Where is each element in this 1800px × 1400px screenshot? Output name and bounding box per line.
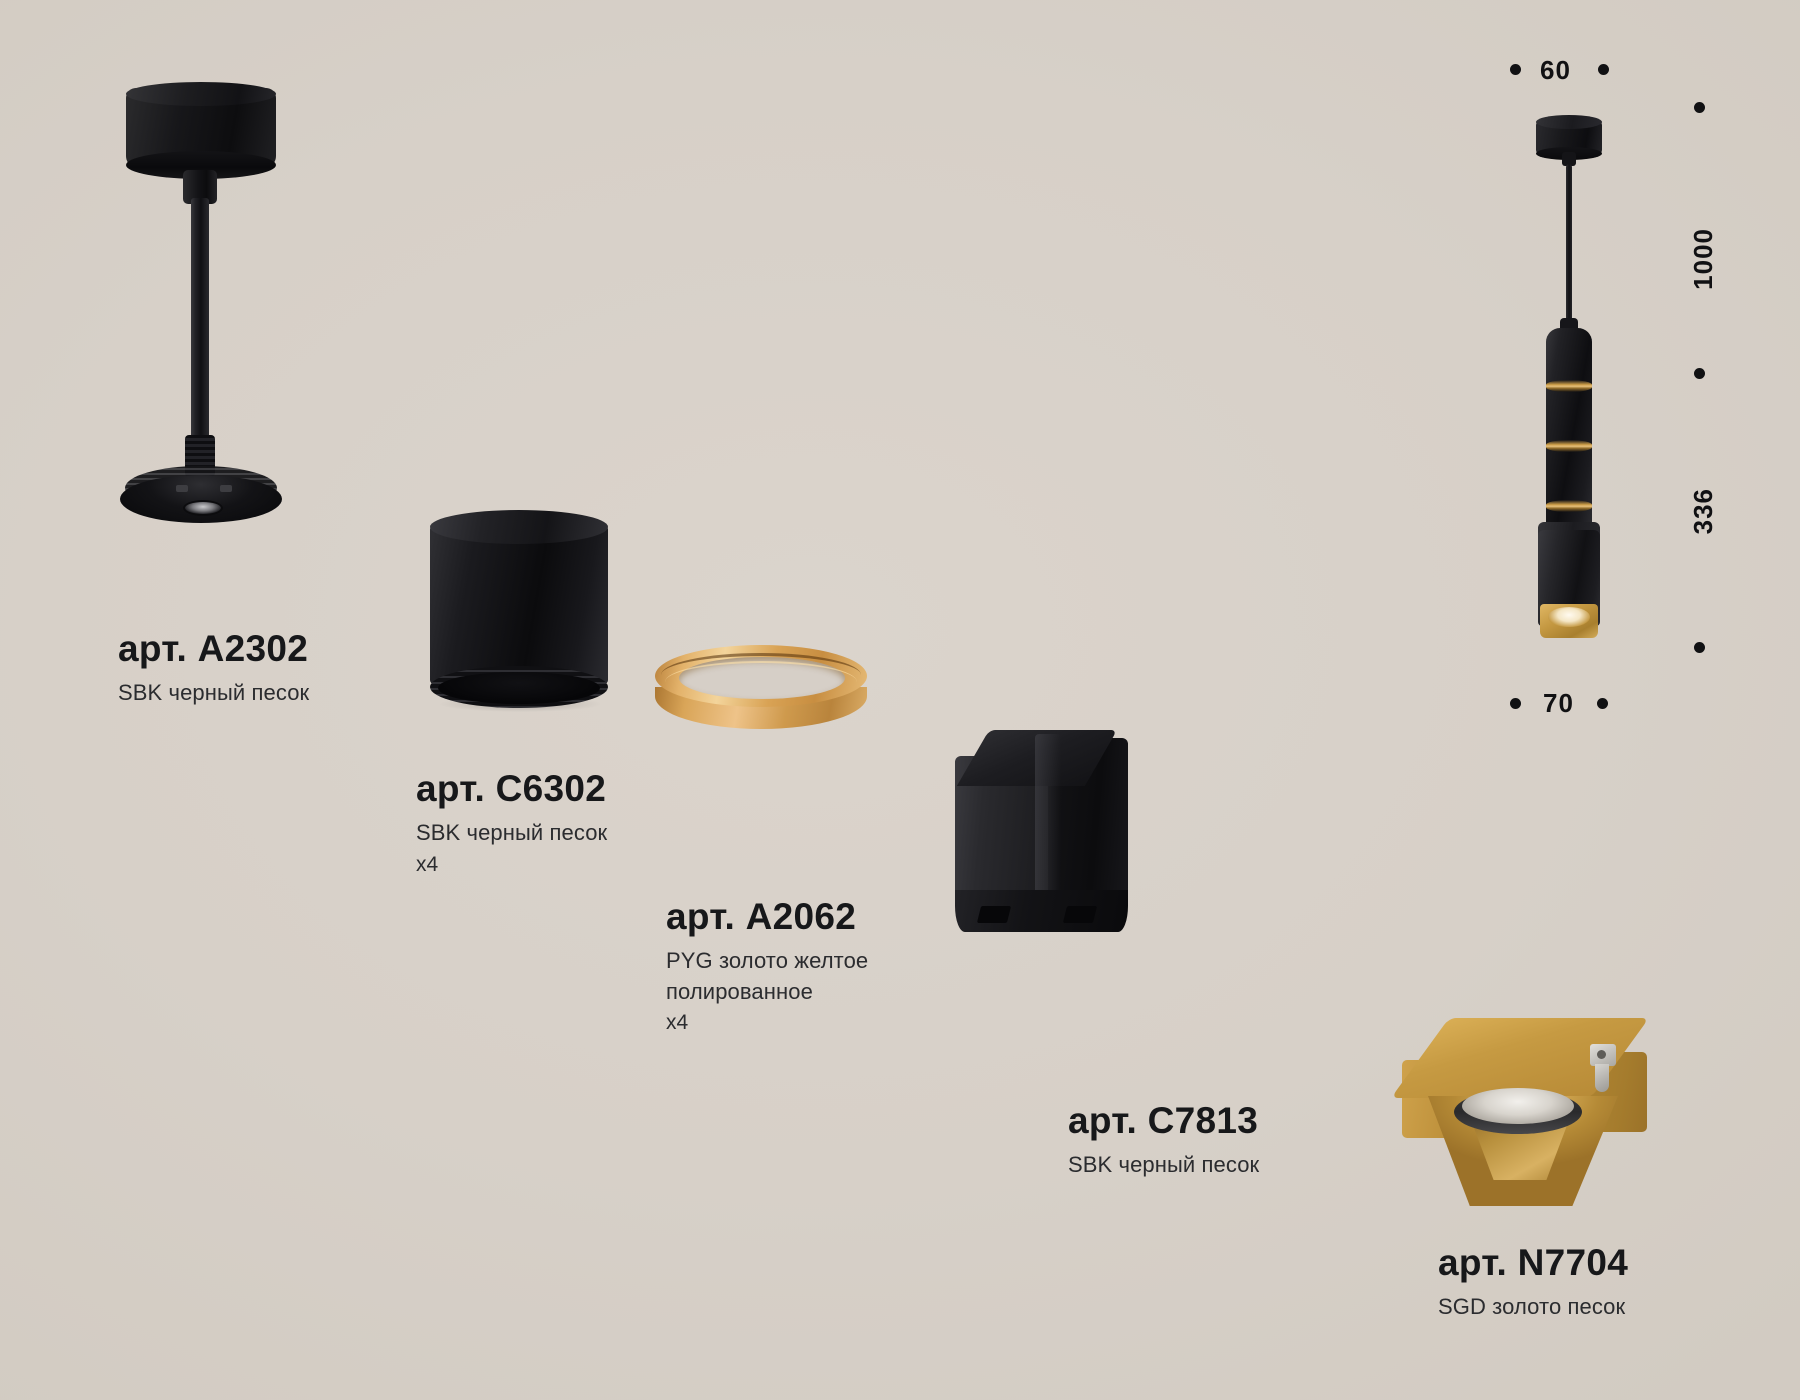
label-n7704: арт. N7704 SGD золото песок bbox=[1438, 1242, 1628, 1323]
dimension-width-bottom: 70 bbox=[1543, 688, 1574, 719]
component-a2062-graphic bbox=[655, 645, 870, 745]
assembly-gold-ring-1-icon bbox=[1546, 380, 1592, 392]
square-tube-slot-left-icon bbox=[977, 906, 1011, 923]
disc-nub-right-icon bbox=[220, 485, 232, 492]
dim-dot-70-left bbox=[1510, 698, 1521, 709]
assembly-gold-ring-3-icon bbox=[1546, 500, 1592, 512]
article-code-c6302: арт. C6302 bbox=[416, 768, 607, 809]
dim-dot-60-left bbox=[1510, 64, 1521, 75]
quantity-c6302: x4 bbox=[416, 851, 607, 879]
assembly-cable-icon bbox=[1566, 164, 1572, 328]
ring-groove-light-icon bbox=[665, 661, 857, 703]
dimension-suspension-length: 1000 bbox=[1688, 228, 1719, 290]
finish-c6302: SBK черный песок bbox=[416, 818, 607, 848]
ceiling-cup-icon bbox=[126, 88, 276, 166]
component-c6302-graphic bbox=[430, 510, 620, 740]
assembly-ceiling-cup-icon bbox=[1536, 120, 1602, 154]
component-n7704-graphic bbox=[1402, 1018, 1662, 1218]
article-code-n7704: арт. N7704 bbox=[1438, 1242, 1628, 1283]
assembly-gold-bezel-icon bbox=[1540, 604, 1598, 638]
cylinder-top-cap-icon bbox=[430, 510, 608, 544]
finish-a2302: SBK черный песок bbox=[118, 678, 309, 708]
label-a2302: арт. A2302 SBK черный песок bbox=[118, 628, 309, 709]
dimension-fixture-height: 336 bbox=[1688, 488, 1719, 534]
disc-center-eye-icon bbox=[183, 500, 223, 516]
article-code-c7813: арт. C7813 bbox=[1068, 1100, 1259, 1141]
article-code-a2062: арт. A2062 bbox=[666, 896, 916, 937]
component-c7813-graphic bbox=[955, 730, 1145, 940]
component-a2302-graphic bbox=[120, 80, 320, 520]
assembled-pendant-graphic bbox=[1520, 110, 1640, 680]
product-exploded-diagram: арт. A2302 SBK черный песок арт. C6302 S… bbox=[0, 0, 1800, 1400]
dim-dot-1000-bottom bbox=[1694, 368, 1705, 379]
label-a2062: арт. A2062 PYG золото желтое полированно… bbox=[666, 896, 916, 1038]
dim-dot-60-right bbox=[1598, 64, 1609, 75]
square-tube-slot-right-icon bbox=[1063, 906, 1097, 923]
suspension-rod-icon bbox=[191, 198, 209, 448]
cylinder-body-icon bbox=[430, 524, 608, 684]
dim-dot-336-bottom bbox=[1694, 642, 1705, 653]
dimension-width-top: 60 bbox=[1540, 55, 1571, 86]
cylinder-shadow bbox=[440, 696, 600, 712]
label-c6302: арт. C6302 SBK черный песок x4 bbox=[416, 768, 607, 879]
square-tube-edge-highlight bbox=[1035, 734, 1061, 904]
disc-nub-left-icon bbox=[176, 485, 188, 492]
spring-clip-hole-icon bbox=[1597, 1050, 1606, 1059]
reflector-lens-icon bbox=[1462, 1088, 1574, 1124]
dim-dot-70-right bbox=[1597, 698, 1608, 709]
assembly-gold-ring-2-icon bbox=[1546, 440, 1592, 452]
dim-dot-1000-top bbox=[1694, 102, 1705, 113]
article-code-a2302: арт. A2302 bbox=[118, 628, 309, 669]
quantity-a2062: x4 bbox=[666, 1009, 916, 1037]
label-c7813: арт. C7813 SBK черный песок bbox=[1068, 1100, 1259, 1181]
finish-a2062: PYG золото желтое полированное bbox=[666, 946, 916, 1007]
finish-c7813: SBK черный песок bbox=[1068, 1150, 1259, 1180]
finish-n7704: SGD золото песок bbox=[1438, 1292, 1628, 1322]
